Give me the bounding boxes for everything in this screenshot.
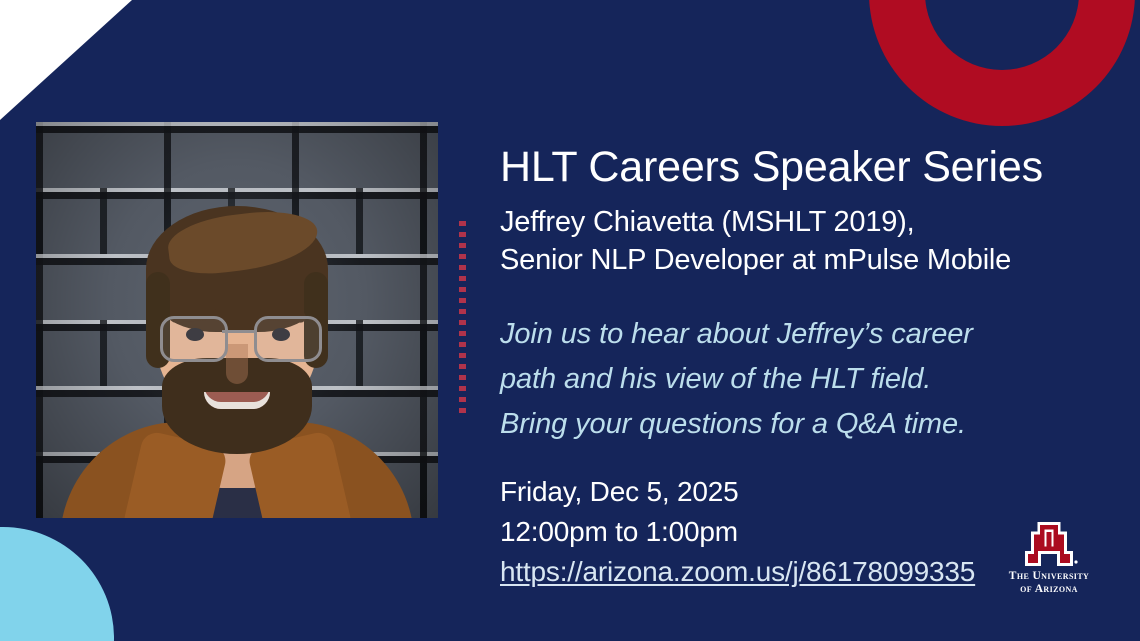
ua-wordmark: The University of Arizona [1003, 570, 1095, 596]
eyeglasses-lens-left [160, 316, 228, 362]
event-time: 12:00pm to 1:00pm [500, 512, 975, 552]
university-of-arizona-logo: The University of Arizona [1003, 521, 1095, 596]
description-line-1: Join us to hear about Jeffrey’s career [500, 312, 973, 357]
block-a-icon [1018, 521, 1080, 567]
red-dotted-divider [459, 221, 466, 413]
event-flyer: HLT Careers Speaker Series Jeffrey Chiav… [0, 0, 1140, 641]
speaker-portrait-figure [36, 122, 438, 518]
light-blue-circle-decoration [0, 527, 114, 641]
nose [226, 344, 248, 384]
speaker-photo [36, 122, 438, 518]
eyeglasses-lens-right [254, 316, 322, 362]
ua-wordmark-line-1: The University [1009, 570, 1089, 582]
event-details: Friday, Dec 5, 2025 12:00pm to 1:00pm ht… [500, 472, 975, 592]
white-corner-triangle-decoration [0, 0, 132, 120]
description-line-2: path and his view of the HLT field. [500, 357, 973, 402]
zoom-meeting-link[interactable]: https://arizona.zoom.us/j/86178099335 [500, 552, 975, 592]
speaker-info: Jeffrey Chiavetta (MSHLT 2019), Senior N… [500, 203, 1011, 279]
mouth [204, 392, 270, 409]
speaker-name-line: Jeffrey Chiavetta (MSHLT 2019), [500, 203, 1011, 241]
event-date: Friday, Dec 5, 2025 [500, 472, 975, 512]
eyeglasses-bridge [222, 330, 254, 333]
event-title: HLT Careers Speaker Series [500, 141, 1043, 193]
description-line-3: Bring your questions for a Q&A time. [500, 402, 973, 447]
event-description: Join us to hear about Jeffrey’s career p… [500, 312, 973, 447]
speaker-role-line: Senior NLP Developer at mPulse Mobile [500, 241, 1011, 279]
ua-wordmark-line-2: of Arizona [1003, 583, 1095, 596]
